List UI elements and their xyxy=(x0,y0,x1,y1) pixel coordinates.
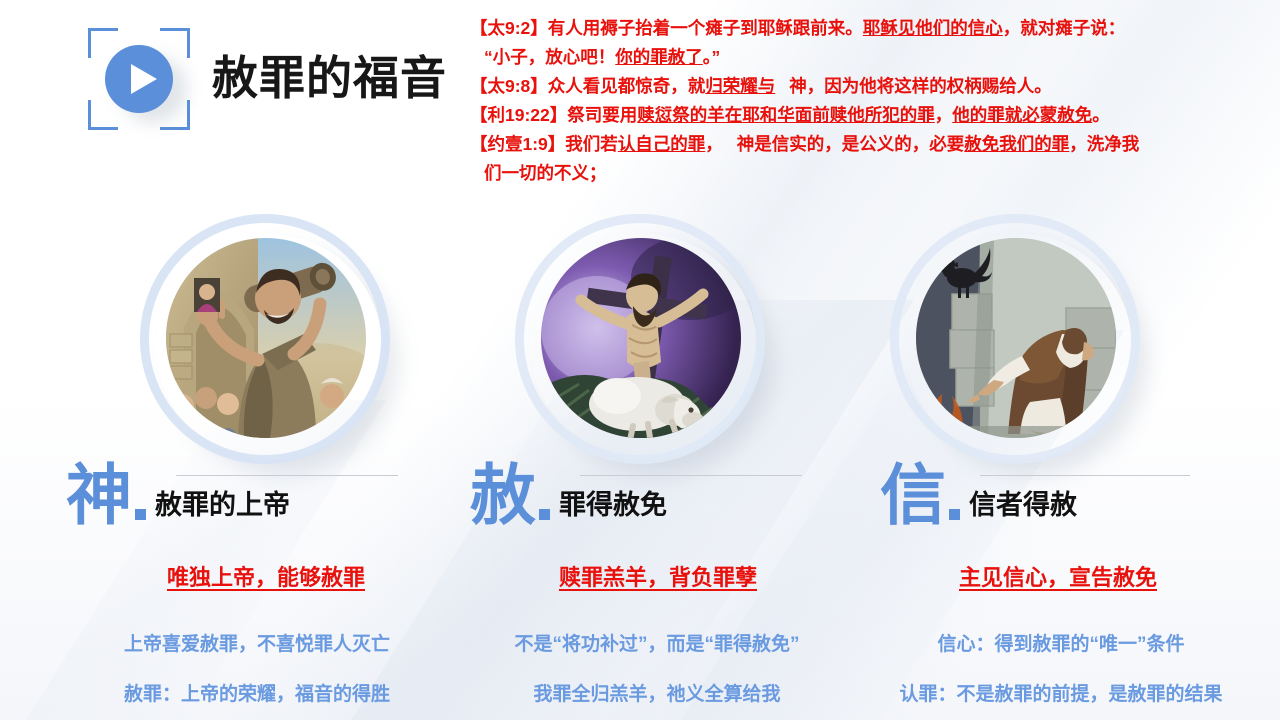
verse-text: 祭司要用 xyxy=(567,105,637,125)
verse-text: ，洗净我 xyxy=(1069,134,1139,154)
illustration-1 xyxy=(140,214,390,464)
verse-emphasis: 赎愆祭的羊在耶和华面前赎他所犯的罪 xyxy=(637,105,935,125)
crucifixion-with-lamb-image xyxy=(541,238,741,438)
column-3-big-char: 信 xyxy=(880,464,946,526)
verse-text: “小子，放心吧！ xyxy=(484,47,615,67)
verse-text: ，就对瘫子说： xyxy=(1003,18,1126,38)
verse-text: 神是信实的，是公义的，必要 xyxy=(737,134,965,154)
scripture-verse-3: 【利19:22】祭司要用赎愆祭的羊在耶和华面前赎他所犯的罪，他的罪就必蒙赦免。 xyxy=(470,101,1276,129)
play-triangle-icon xyxy=(131,64,157,94)
scripture-verse-4-cont: 们一切的不义； xyxy=(470,159,1276,187)
slide-root: 赦罪的福音 【太9:2】有人用褥子抬着一个瘫子到耶稣跟前来。耶稣见他们的信心，就… xyxy=(0,0,1280,720)
illustration-row xyxy=(0,212,1280,468)
heading-dot xyxy=(135,509,146,520)
column-2-heading: 赦 罪得赦免 xyxy=(470,464,667,526)
verse-text: 。 xyxy=(1092,105,1110,125)
peter-weeping-with-rooster-image xyxy=(916,238,1116,438)
column-1-key-point: 唯独上帝，能够赦罪 xyxy=(66,560,466,592)
column-1-big-char: 神 xyxy=(66,464,132,526)
verse-emphasis: 赦免我们的罪 xyxy=(964,134,1069,154)
heading-dot xyxy=(949,509,960,520)
verse-text: ，因为他将这样的权柄赐给人。 xyxy=(807,76,1052,96)
verse-text: 有人用褥子抬着一个瘫子到耶稣跟前来。 xyxy=(548,18,863,38)
verse-ref: 【太9:8】 xyxy=(470,76,548,96)
verse-text: 众人看见都惊奇，就 xyxy=(548,76,706,96)
verse-ref: 【太9:2】 xyxy=(470,18,548,38)
heading-dot xyxy=(539,509,550,520)
scripture-verse-2: 【太9:8】众人看见都惊奇，就归荣耀与神，因为他将这样的权柄赐给人。 xyxy=(470,72,1276,100)
column-3-note-2: 认罪：不是赦罪的前提，是赦罪的结果 xyxy=(846,679,1276,706)
column-1-note-1: 上帝喜爱赦罪，不喜悦罪人灭亡 xyxy=(42,629,472,656)
column-2-key-point: 赎罪羔羊，背负罪孽 xyxy=(458,560,858,592)
verse-emphasis: 耶稣见他们的信心 xyxy=(863,18,1003,38)
verse-emphasis: 他的罪就必蒙赦免 xyxy=(952,105,1092,125)
column-2-note-1: 不是“将功补过”，而是“罪得赦免” xyxy=(442,629,872,656)
verse-text: 。” xyxy=(703,47,721,67)
column-1-subtitle: 赦罪的上帝 xyxy=(155,488,290,526)
healed-paralytic-carrying-mat-image xyxy=(166,238,366,438)
scripture-verse-1-cont: “小子，放心吧！你的罪赦了。” xyxy=(470,43,1276,71)
verse-ref: 【利19:22】 xyxy=(470,105,567,125)
verse-text: ， xyxy=(935,105,953,125)
verse-text: 我们若 xyxy=(565,134,618,154)
verse-text: ， xyxy=(705,134,723,154)
verse-ref: 【约壹1:9】 xyxy=(470,134,565,154)
column-3-heading: 信 信者得赦 xyxy=(880,464,1077,526)
verse-text: 们一切的不义； xyxy=(484,163,607,183)
column-1-heading: 神 赦罪的上帝 xyxy=(66,464,290,526)
verse-emphasis: 认自己的罪 xyxy=(618,134,706,154)
scripture-block: 【太9:2】有人用褥子抬着一个瘫子到耶稣跟前来。耶稣见他们的信心，就对瘫子说： … xyxy=(470,14,1276,188)
column-2-subtitle: 罪得赦免 xyxy=(559,488,667,526)
column-1-note-2: 赦罪：上帝的荣耀，福音的得胜 xyxy=(42,679,472,706)
column-2-big-char: 赦 xyxy=(470,464,536,526)
page-title: 赦罪的福音 xyxy=(212,42,447,108)
column-3-subtitle: 信者得赦 xyxy=(969,488,1077,526)
illustration-2 xyxy=(515,214,765,464)
scripture-verse-4: 【约壹1:9】我们若认自己的罪，神是信实的，是公义的，必要赦免我们的罪，洗净我 xyxy=(470,130,1276,158)
scripture-verse-1: 【太9:2】有人用褥子抬着一个瘫子到耶稣跟前来。耶稣见他们的信心，就对瘫子说： xyxy=(470,14,1276,42)
verse-emphasis: 你的罪赦了 xyxy=(615,47,703,67)
column-3-note-1: 信心：得到赦罪的“唯一”条件 xyxy=(846,629,1276,656)
verse-emphasis: 归荣耀与 xyxy=(705,76,775,96)
illustration-3 xyxy=(890,214,1140,464)
play-button-icon xyxy=(88,28,190,130)
logo-circle xyxy=(105,45,173,113)
verse-text: 神 xyxy=(789,76,807,96)
column-3-key-point: 主见信心，宣告赦免 xyxy=(858,560,1258,592)
column-2-note-2: 我罪全归羔羊，祂义全算给我 xyxy=(442,679,872,706)
